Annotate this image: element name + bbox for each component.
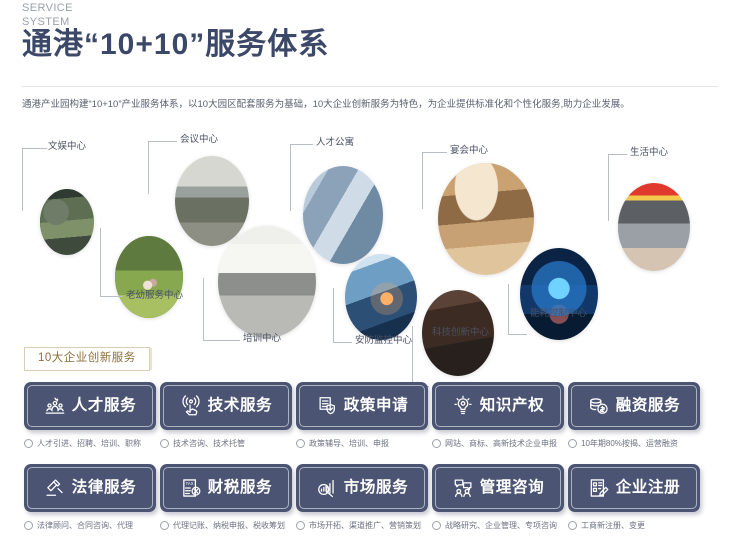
- service-card-tech[interactable]: 技术服务: [160, 382, 292, 430]
- service-card-registration[interactable]: 企业注册: [568, 464, 700, 512]
- service-desc-4: 10年期80%按揭、运营融资: [568, 438, 678, 449]
- service-card-title: 法律服务: [72, 477, 136, 499]
- market-chart-icon: [316, 477, 338, 499]
- service-desc-5: 法律顾问、合同咨询、代理: [24, 520, 133, 531]
- service-card-title: 政策申请: [344, 395, 408, 417]
- bullet-ring-icon: [568, 521, 577, 530]
- facility-label-4: 人才公寓: [316, 137, 354, 149]
- service-card-policy[interactable]: 政策申请: [296, 382, 428, 430]
- bullet-ring-icon: [568, 439, 577, 448]
- service-card-legal[interactable]: 法律服务: [24, 464, 156, 512]
- service-desc-text: 10年期80%按揭、运营融资: [581, 438, 678, 449]
- service-desc-9: 工商新注册、变更: [568, 520, 645, 531]
- facility-leader-5: [333, 288, 352, 343]
- facility-leader-8: [508, 284, 527, 335]
- tech-touch-icon: [180, 395, 202, 417]
- service-card-market[interactable]: 市场服务: [296, 464, 428, 512]
- facility-leader-0: [22, 148, 47, 211]
- service-desc-7: 市场开拓、渠道推广、营销策划: [296, 520, 421, 531]
- service-card-title: 市场服务: [344, 477, 408, 499]
- facility-photo-5: [345, 254, 417, 340]
- facility-photo-8: [520, 248, 598, 340]
- service-desc-8: 战略研究、企业管理、专项咨询: [432, 520, 557, 531]
- facility-photo-9: [618, 183, 690, 271]
- service-card-title: 技术服务: [208, 395, 272, 417]
- facility-photo-1: [115, 236, 183, 318]
- service-desc-text: 网站、商标、高新技术企业申报: [445, 438, 557, 449]
- coins-money-icon: [588, 395, 610, 417]
- facility-leader-2: [148, 141, 177, 194]
- service-desc-text: 工商新注册、变更: [581, 520, 645, 531]
- service-system-page: SERVICE SYSTEM 通港“10+10”服务体系 通港产业园构建“10+…: [0, 0, 740, 538]
- bullet-ring-icon: [24, 521, 33, 530]
- service-cell-1: 技术服务 技术咨询、技术托管: [160, 382, 292, 430]
- facility-leader-1: [100, 228, 123, 297]
- intro-paragraph: 通港产业园构建“10+10”产业服务体系，以10大园区配套服务为基础，10大企业…: [22, 98, 722, 112]
- facility-leader-7: [412, 326, 429, 387]
- service-desc-2: 政策辅导、培训、申报: [296, 438, 389, 449]
- service-desc-text: 代理记账、纳税申报、税收筹划: [173, 520, 285, 531]
- service-desc-1: 技术咨询、技术托管: [160, 438, 245, 449]
- bullet-ring-icon: [432, 439, 441, 448]
- service-cell-0: 人才服务 人才引进、招聘、培训、职称: [24, 382, 156, 430]
- service-cell-5: 法律服务 法律顾问、合同咨询、代理: [24, 464, 156, 512]
- service-desc-0: 人才引进、招聘、培训、职称: [24, 438, 141, 449]
- bullet-ring-icon: [160, 439, 169, 448]
- service-card-title: 知识产权: [480, 395, 544, 417]
- facility-leader-6: [422, 152, 447, 209]
- eyebrow-service-system: SERVICE SYSTEM: [22, 1, 73, 29]
- facility-label-9: 生活中心: [630, 147, 668, 159]
- bullet-ring-icon: [296, 521, 305, 530]
- service-card-tax[interactable]: TAX 财税服务: [160, 464, 292, 512]
- facility-label-2: 会议中心: [180, 134, 218, 146]
- service-cell-9: 企业注册 工商新注册、变更: [568, 464, 700, 512]
- service-card-finance[interactable]: 融资服务: [568, 382, 700, 430]
- service-cell-6: TAX 财税服务 代理记账、纳税申报、税收筹划: [160, 464, 292, 512]
- bullet-ring-icon: [296, 439, 305, 448]
- facility-label-6: 宴会中心: [450, 145, 488, 157]
- service-card-title: 企业注册: [616, 477, 680, 499]
- service-desc-text: 法律顾问、合同咨询、代理: [37, 520, 133, 531]
- service-desc-text: 战略研究、企业管理、专项咨询: [445, 520, 557, 531]
- service-cell-4: 融资服务 10年期80%按揭、运营融资: [568, 382, 700, 430]
- tax-document-icon: TAX: [180, 477, 202, 499]
- innovation-card-grid: 人才服务 人才引进、招聘、培训、职称: [0, 382, 740, 538]
- lightbulb-idea-icon: [452, 395, 474, 417]
- service-desc-3: 网站、商标、高新技术企业申报: [432, 438, 557, 449]
- policy-shield-icon: [316, 395, 338, 417]
- facility-leader-4: [290, 144, 313, 211]
- facility-photo-6: [438, 163, 534, 275]
- service-cell-2: 政策申请 政策辅导、培训、申报: [296, 382, 428, 430]
- bullet-ring-icon: [432, 521, 441, 530]
- bullet-ring-icon: [160, 521, 169, 530]
- facility-label-3: 培训中心: [243, 333, 281, 345]
- service-desc-text: 市场开拓、渠道推广、营销策划: [309, 520, 421, 531]
- service-card-title: 财税服务: [208, 477, 272, 499]
- facility-cluster: 文娱中心 老幼服务中心 会议中心 培训中心: [0, 128, 740, 343]
- svg-text:TAX: TAX: [185, 481, 193, 486]
- facility-label-0: 文娱中心: [48, 141, 86, 153]
- service-cell-3: 知识产权 网站、商标、高新技术企业申报: [432, 382, 564, 430]
- innovation-section-badge: 10大企业创新服务: [24, 347, 150, 371]
- facility-label-5: 安防监控中心: [355, 335, 412, 347]
- service-desc-text: 政策辅导、培训、申报: [309, 438, 389, 449]
- gavel-scale-icon: [44, 477, 66, 499]
- service-desc-text: 技术咨询、技术托管: [173, 438, 245, 449]
- service-card-title: 管理咨询: [480, 477, 544, 499]
- service-desc-6: 代理记账、纳税申报、税收筹划: [160, 520, 285, 531]
- service-card-title: 融资服务: [616, 395, 680, 417]
- facility-label-1: 老幼服务中心: [126, 290, 183, 302]
- facility-leader-3: [203, 278, 240, 341]
- title-divider: [22, 86, 718, 87]
- register-clipboard-icon: [588, 477, 610, 499]
- facility-label-7: 科技创新中心: [432, 327, 489, 339]
- service-cell-7: 市场服务 市场开拓、渠道推广、营销策划: [296, 464, 428, 512]
- service-cell-8: 管理咨询 战略研究、企业管理、专项咨询: [432, 464, 564, 512]
- service-card-consulting[interactable]: 管理咨询: [432, 464, 564, 512]
- facility-leader-9: [608, 154, 627, 221]
- talent-group-icon: [44, 395, 66, 417]
- facility-photo-2: [175, 156, 249, 246]
- facility-photo-4: [303, 166, 383, 264]
- service-card-title: 人才服务: [72, 395, 136, 417]
- service-card-talent[interactable]: 人才服务: [24, 382, 156, 430]
- service-card-ip[interactable]: 知识产权: [432, 382, 564, 430]
- consult-people-icon: [452, 477, 474, 499]
- service-desc-text: 人才引进、招聘、培训、职称: [37, 438, 141, 449]
- page-title: 通港“10+10”服务体系: [22, 28, 329, 62]
- facility-label-8: 能耗控制中心: [530, 308, 587, 320]
- facility-photo-0: [40, 189, 94, 255]
- bullet-ring-icon: [24, 439, 33, 448]
